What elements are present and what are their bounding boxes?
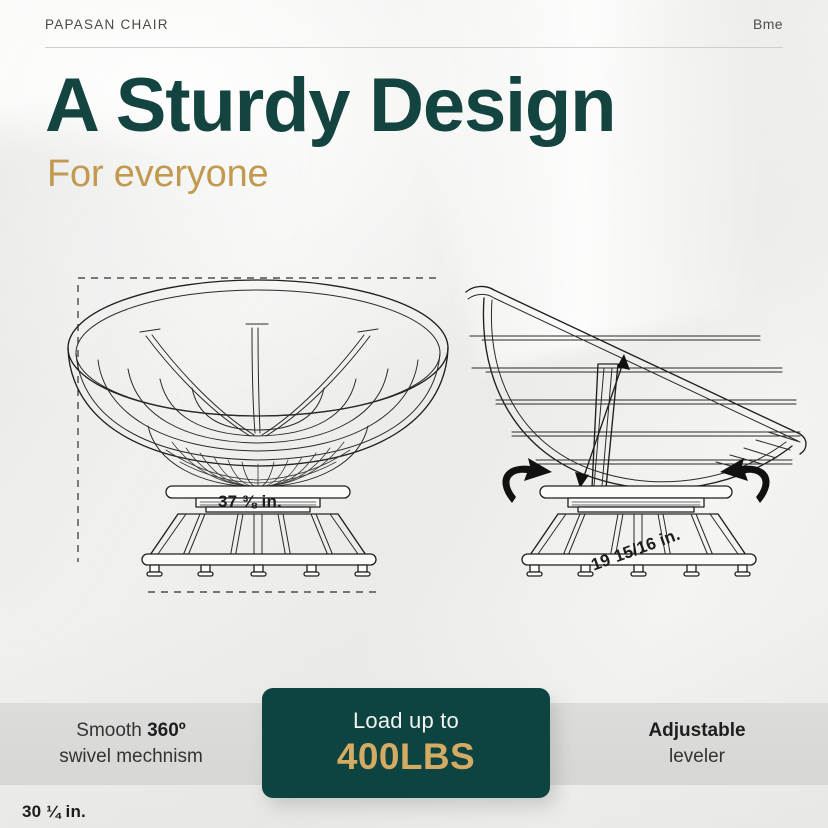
side-slats [482, 336, 800, 464]
seat-depth-arrow [575, 354, 630, 488]
dimension-label-overall-height: 30 ¼ in. [22, 802, 86, 822]
side-support-post [592, 364, 618, 488]
side-base-levelers [527, 565, 750, 576]
leveler-foot [198, 565, 213, 576]
page-title: A Sturdy Design [45, 68, 615, 144]
feature-leveler-line1: Adjustable [648, 720, 745, 741]
side-top-rail [466, 286, 806, 454]
chair-front-view [68, 280, 448, 576]
product-category-label: PAPASAN CHAIR [45, 17, 169, 32]
leveler-foot [147, 565, 162, 576]
leveler-foot [355, 565, 370, 576]
leveler-foot [304, 565, 319, 576]
feature-leveler: Adjustable leveler [566, 703, 828, 785]
dimension-label-overall-width: 37 ⅜ in. [218, 492, 282, 512]
bowl-weave-hatch [166, 442, 350, 487]
chair-side-view [466, 286, 806, 576]
chair-diagrams-svg: .ink { fill:none; stroke:#1f1f1f; stroke… [0, 236, 828, 656]
page-subtitle: For everyone [47, 155, 268, 193]
side-swivel-ring [568, 498, 704, 507]
leveler-foot [684, 565, 699, 576]
leveler-foot [631, 565, 646, 576]
product-diagram-stage: .ink { fill:none; stroke:#1f1f1f; stroke… [0, 236, 828, 656]
dimension-guides-left [78, 278, 438, 592]
side-swivel-plate [540, 486, 732, 498]
load-badge-value: 400LBS [337, 736, 475, 778]
load-capacity-badge: Load up to 400LBS [262, 688, 550, 798]
header-divider [45, 47, 783, 48]
header-bar: PAPASAN CHAIR Bme [45, 16, 783, 32]
load-badge-caption: Load up to [353, 708, 459, 734]
leveler-foot [578, 565, 593, 576]
infographic-page: PAPASAN CHAIR Bme A Sturdy Design For ev… [0, 0, 828, 828]
base-front-rail [142, 554, 376, 565]
side-swivel-bearing [578, 507, 694, 512]
feature-swivel: Smooth 360º swivel mechnism [0, 703, 262, 785]
leveler-foot [527, 565, 542, 576]
leveler-foot [251, 565, 266, 576]
feature-swivel-line1-plain: Smooth [76, 720, 147, 741]
feature-leveler-line2: leveler [669, 746, 725, 767]
feature-swivel-line2: swivel mechnism [59, 746, 203, 767]
chair-base-stand [142, 514, 376, 565]
leveler-foot [735, 565, 750, 576]
feature-swivel-line1-strong: 360º [147, 720, 186, 741]
base-levelers [147, 565, 370, 576]
brand-logo-text: Bme [753, 16, 783, 32]
